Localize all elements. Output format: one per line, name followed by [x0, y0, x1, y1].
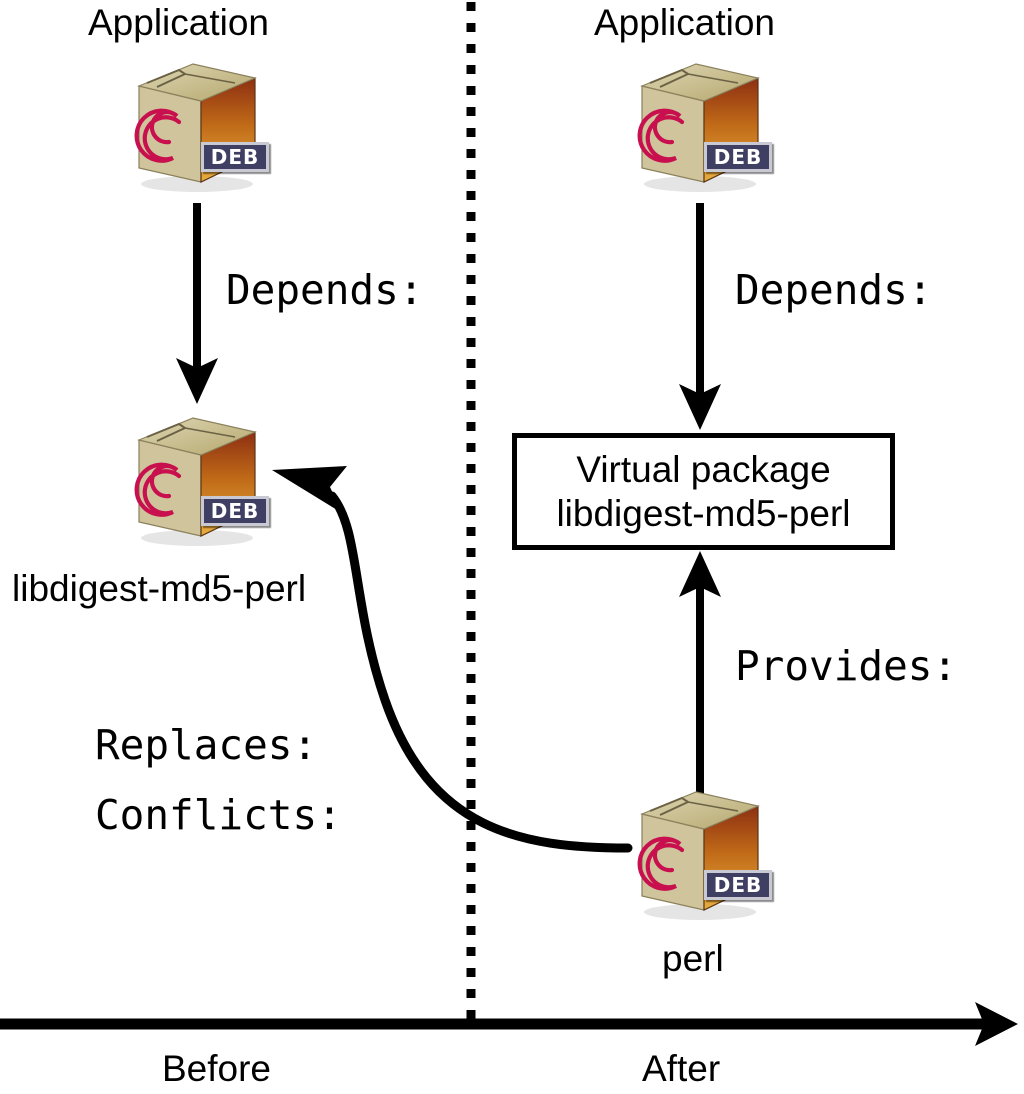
deb-badge-text: DEB [714, 147, 763, 167]
virtual-package-box: Virtual package libdigest-md5-perl [512, 433, 895, 550]
before-application-package-icon: DEB [123, 56, 271, 194]
after-perl-package-icon: DEB [626, 784, 774, 922]
deb-badge: DEB [201, 142, 269, 172]
replaces-label: Replaces: [95, 725, 317, 766]
replaces-conflicts-arrowhead [272, 466, 347, 513]
deb-badge-text: DEB [211, 147, 260, 167]
after-application-package-icon: DEB [626, 56, 774, 194]
before-timeline-label: Before [162, 1050, 271, 1087]
deb-badge: DEB [704, 142, 772, 172]
virtual-package-line1: Virtual package [576, 448, 830, 492]
before-libdigest-package-icon: DEB [123, 410, 271, 548]
deb-badge: DEB [704, 870, 772, 900]
conflicts-label: Conflicts: [95, 795, 342, 836]
before-application-label: Application [88, 4, 269, 41]
diagram-canvas: Application Depends: libdigest-md5-perl … [0, 0, 1024, 1094]
before-package-label: libdigest-md5-perl [12, 570, 306, 607]
deb-badge-text: DEB [714, 875, 763, 895]
after-application-label: Application [594, 4, 775, 41]
provides-label: Provides: [735, 646, 957, 687]
after-package-label: perl [662, 940, 724, 977]
deb-badge-text: DEB [211, 501, 260, 521]
after-depends-label: Depends: [735, 270, 932, 311]
after-timeline-label: After [642, 1050, 720, 1087]
virtual-package-line2: libdigest-md5-perl [556, 492, 850, 536]
before-depends-label: Depends: [226, 270, 423, 311]
deb-badge: DEB [201, 496, 269, 526]
